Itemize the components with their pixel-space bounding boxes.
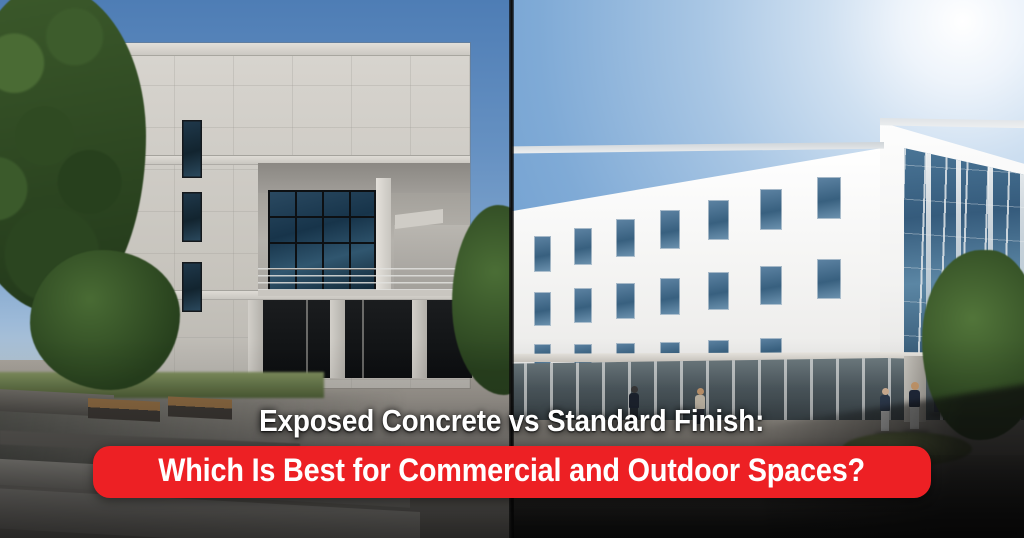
terrace-soffit [258,163,470,193]
headline-line-2: Which Is Best for Commercial and Outdoor… [159,452,866,490]
lobby-pillar [412,300,427,378]
facade-window [760,266,782,305]
facade-window [708,200,729,240]
facade-window [660,278,680,315]
pedestrian-head [697,388,704,395]
facade-window [534,292,551,326]
facade-window [574,288,592,323]
pedestrian-head [882,388,889,395]
facade-window [760,189,782,230]
pedestrian-head [911,382,919,390]
facade-window [660,210,680,249]
facade-window [616,283,635,319]
ground-floor-lobby-glazing [250,300,472,378]
balcony-slab [258,290,470,296]
lobby-pillar [248,300,263,378]
headline-red-banner: Which Is Best for Commercial and Outdoor… [93,446,930,498]
concrete-parapet [115,43,470,56]
facade-window [708,272,729,310]
facade-window [534,236,551,272]
promo-banner-image: Exposed Concrete vs Standard Finish: Whi… [0,0,1024,538]
plaza-tree [30,250,180,390]
lobby-mullions [250,300,472,378]
facade-window [817,177,841,219]
headline-line-1: Exposed Concrete vs Standard Finish: [259,405,764,437]
facade-window [574,228,592,265]
facade-window [182,120,202,178]
balcony-railing [258,268,470,290]
facade-window [182,192,202,242]
facade-window [182,262,202,312]
lobby-pillar [330,300,345,378]
pedestrian-head [631,386,638,393]
facade-window [616,219,635,257]
headline-overlay: Exposed Concrete vs Standard Finish: Whi… [0,405,1024,498]
facade-window [817,259,841,299]
